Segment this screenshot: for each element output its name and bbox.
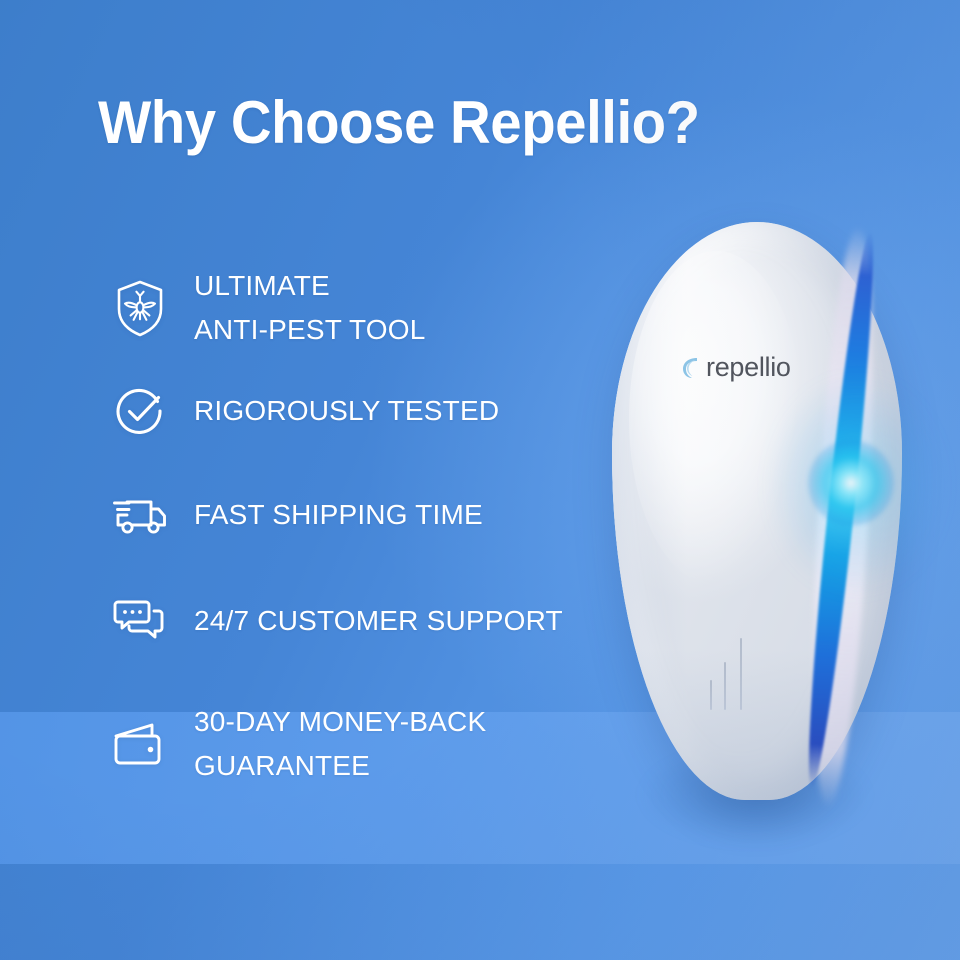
promo-poster: Why Choose Repellio? — [0, 0, 960, 960]
page-title: Why Choose Repellio? — [98, 86, 700, 160]
wallet-icon — [108, 713, 172, 775]
feature-list: ULTIMATE ANTI-PEST TOOL RIGOROUSLY TESTE… — [108, 262, 608, 818]
delivery-truck-icon — [108, 484, 172, 546]
device-vent-slits — [710, 630, 770, 710]
feature-label: RIGOROUSLY TESTED — [194, 389, 499, 433]
check-circle-icon — [108, 380, 172, 442]
feature-item-rigorously-tested: RIGOROUSLY TESTED — [108, 380, 608, 442]
device-brand-wordmark: repellio — [706, 354, 791, 381]
feature-label: ULTIMATE ANTI-PEST TOOL — [194, 264, 426, 352]
vent-slit — [710, 680, 712, 710]
feature-label-line1: ULTIMATE — [194, 270, 330, 301]
feature-item-ultimate-anti-pest-tool: ULTIMATE ANTI-PEST TOOL — [108, 262, 608, 354]
feature-label: 30-DAY MONEY-BACK GUARANTEE — [194, 700, 486, 788]
feature-label: FAST SHIPPING TIME — [194, 493, 483, 537]
feature-label-line2: ANTI-PEST TOOL — [194, 314, 426, 345]
product-image: repellio — [560, 200, 960, 820]
device-highlight — [629, 251, 803, 586]
feature-label-line1: 30-DAY MONEY-BACK — [194, 706, 486, 737]
feature-item-money-back-guarantee: 30-DAY MONEY-BACK GUARANTEE — [108, 698, 608, 790]
chat-bubbles-icon — [108, 590, 172, 652]
feature-label-line2: GUARANTEE — [194, 750, 370, 781]
feature-item-fast-shipping-time: FAST SHIPPING TIME — [108, 484, 608, 546]
shield-mosquito-icon — [108, 277, 172, 339]
vent-slit — [740, 638, 742, 710]
feature-item-customer-support: 24/7 CUSTOMER SUPPORT — [108, 590, 608, 652]
vent-slit — [724, 662, 726, 710]
device-brand-logo: repellio — [680, 354, 791, 381]
product-device-body: repellio — [612, 222, 902, 800]
device-shading-left — [612, 222, 687, 800]
leaf-swirl-icon — [680, 355, 702, 381]
feature-label: 24/7 CUSTOMER SUPPORT — [194, 599, 563, 643]
